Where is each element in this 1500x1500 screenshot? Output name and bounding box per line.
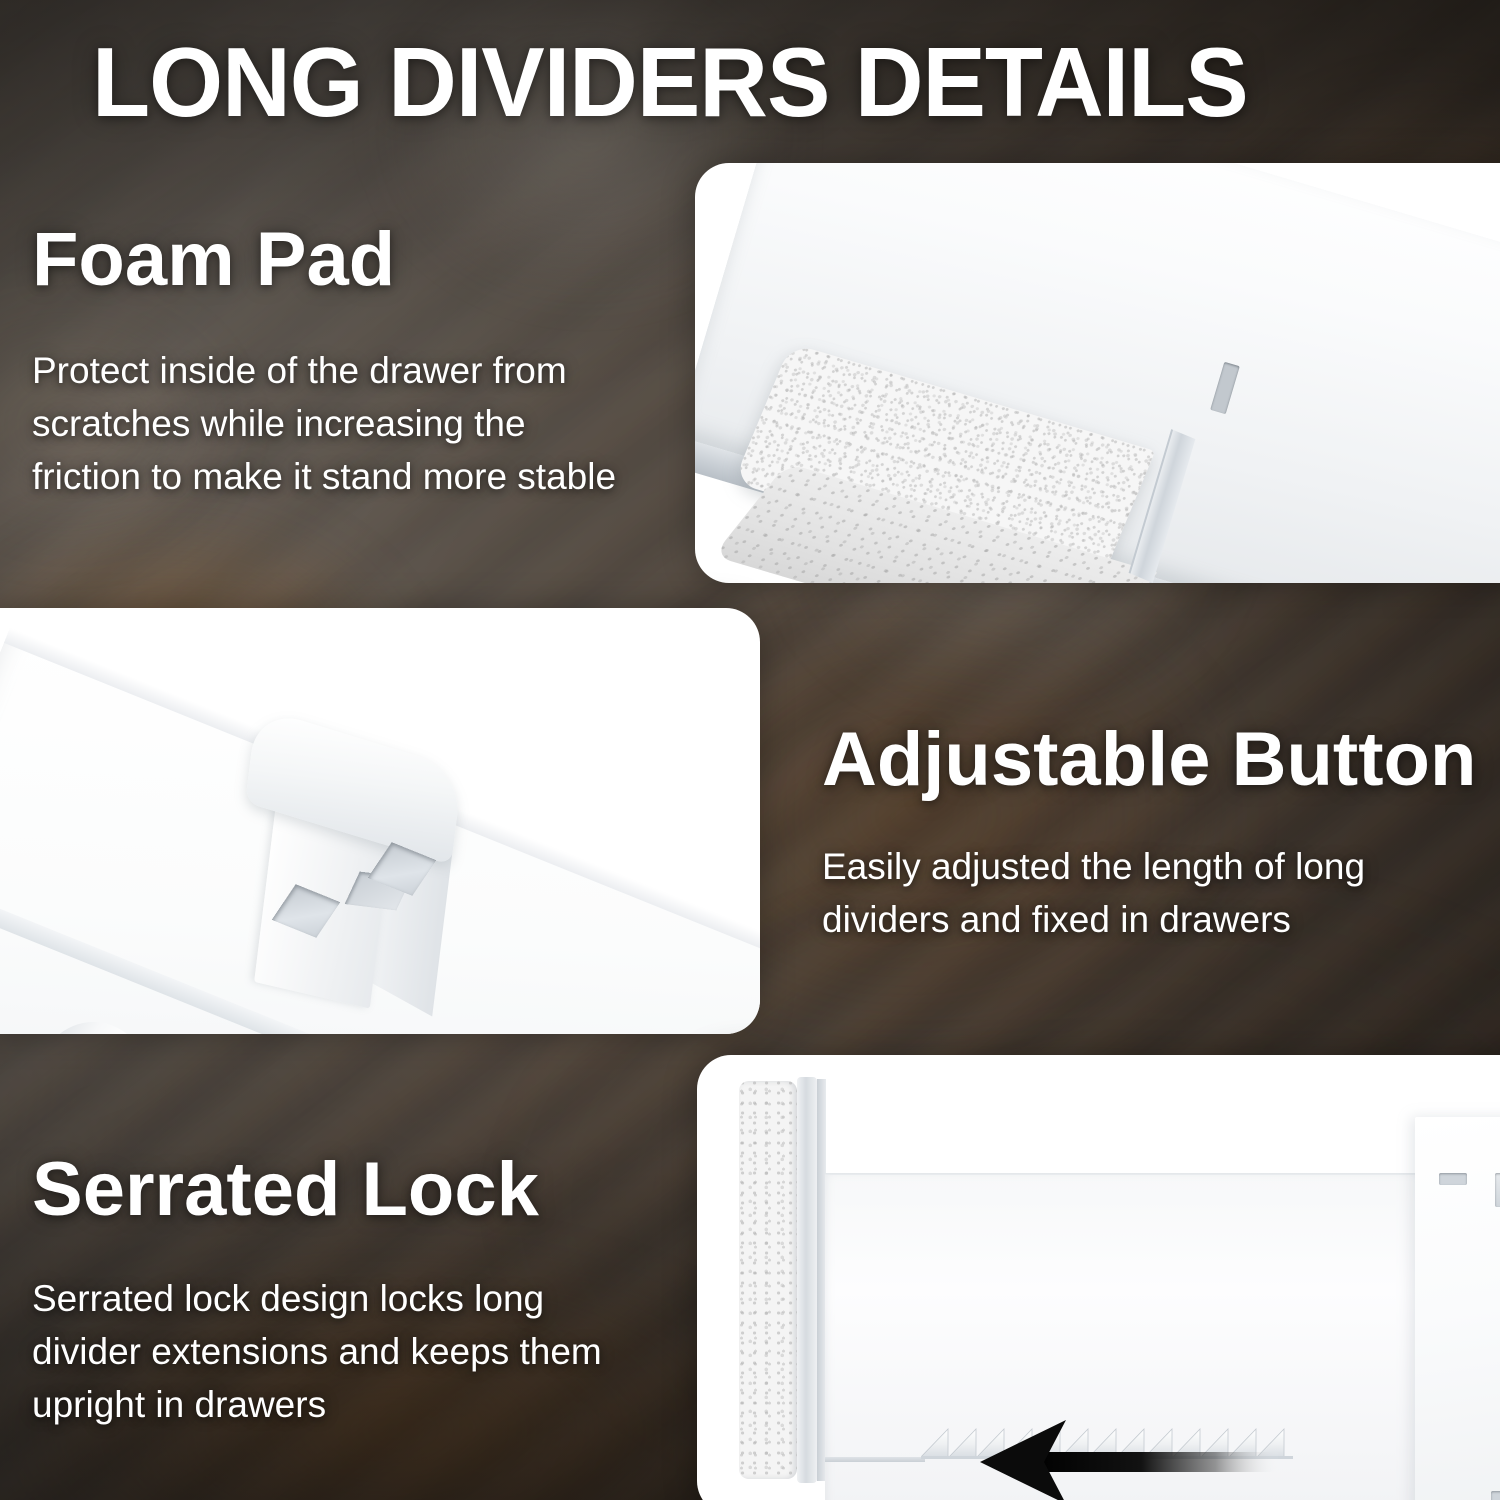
feature-body-line: divider extensions and keeps them — [32, 1325, 602, 1378]
feature-heading-serrated-lock: Serrated Lock — [32, 1152, 602, 1228]
feature-body-line: Protect inside of the drawer from — [32, 344, 616, 397]
feature-body-adjustable-button: Easily adjusted the length of long divid… — [822, 840, 1476, 946]
feature-body-line: dividers and fixed in drawers — [822, 893, 1476, 946]
foam-pad-strip — [739, 1081, 797, 1479]
feature-body-serrated-lock: Serrated lock design locks long divider … — [32, 1272, 602, 1431]
feature-body-line: Easily adjusted the length of long — [822, 840, 1476, 893]
foam-pad-product-photo — [695, 163, 1500, 583]
feature-body-line: upright in drawers — [32, 1378, 602, 1431]
feature-heading-foam-pad: Foam Pad — [32, 222, 616, 298]
feature-body-line: Serrated lock design locks long — [32, 1272, 602, 1325]
feature-block-foam-pad: Foam Pad Protect inside of the drawer fr… — [32, 222, 616, 503]
left-arrow-icon — [980, 1420, 1280, 1500]
adjustable-button-product-photo — [0, 608, 760, 1034]
feature-heading-adjustable-button: Adjustable Button — [822, 722, 1476, 798]
slider-notch — [1491, 1491, 1500, 1500]
divider-end-cap — [797, 1077, 817, 1483]
feature-block-serrated-lock: Serrated Lock Serrated lock design locks… — [32, 1152, 602, 1431]
feature-body-foam-pad: Protect inside of the drawer from scratc… — [32, 344, 616, 503]
slider-button-housing — [1495, 1173, 1500, 1207]
adjustable-button-photo-panel: adjustable-button-clip-closeup — [0, 608, 760, 1034]
feature-body-line: friction to make it stand more stable — [32, 450, 616, 503]
feature-body-line: scratches while increasing the — [32, 397, 616, 450]
divider-rack-lip — [825, 1457, 925, 1462]
page-title: LONG DIVIDERS DETAILS — [92, 26, 1248, 139]
foam-pad-photo-panel: drawer-divider-end-with-foam-pad — [695, 163, 1500, 583]
feature-block-adjustable-button: Adjustable Button Easily adjusted the le… — [822, 722, 1476, 946]
slider-notch — [1439, 1173, 1467, 1185]
